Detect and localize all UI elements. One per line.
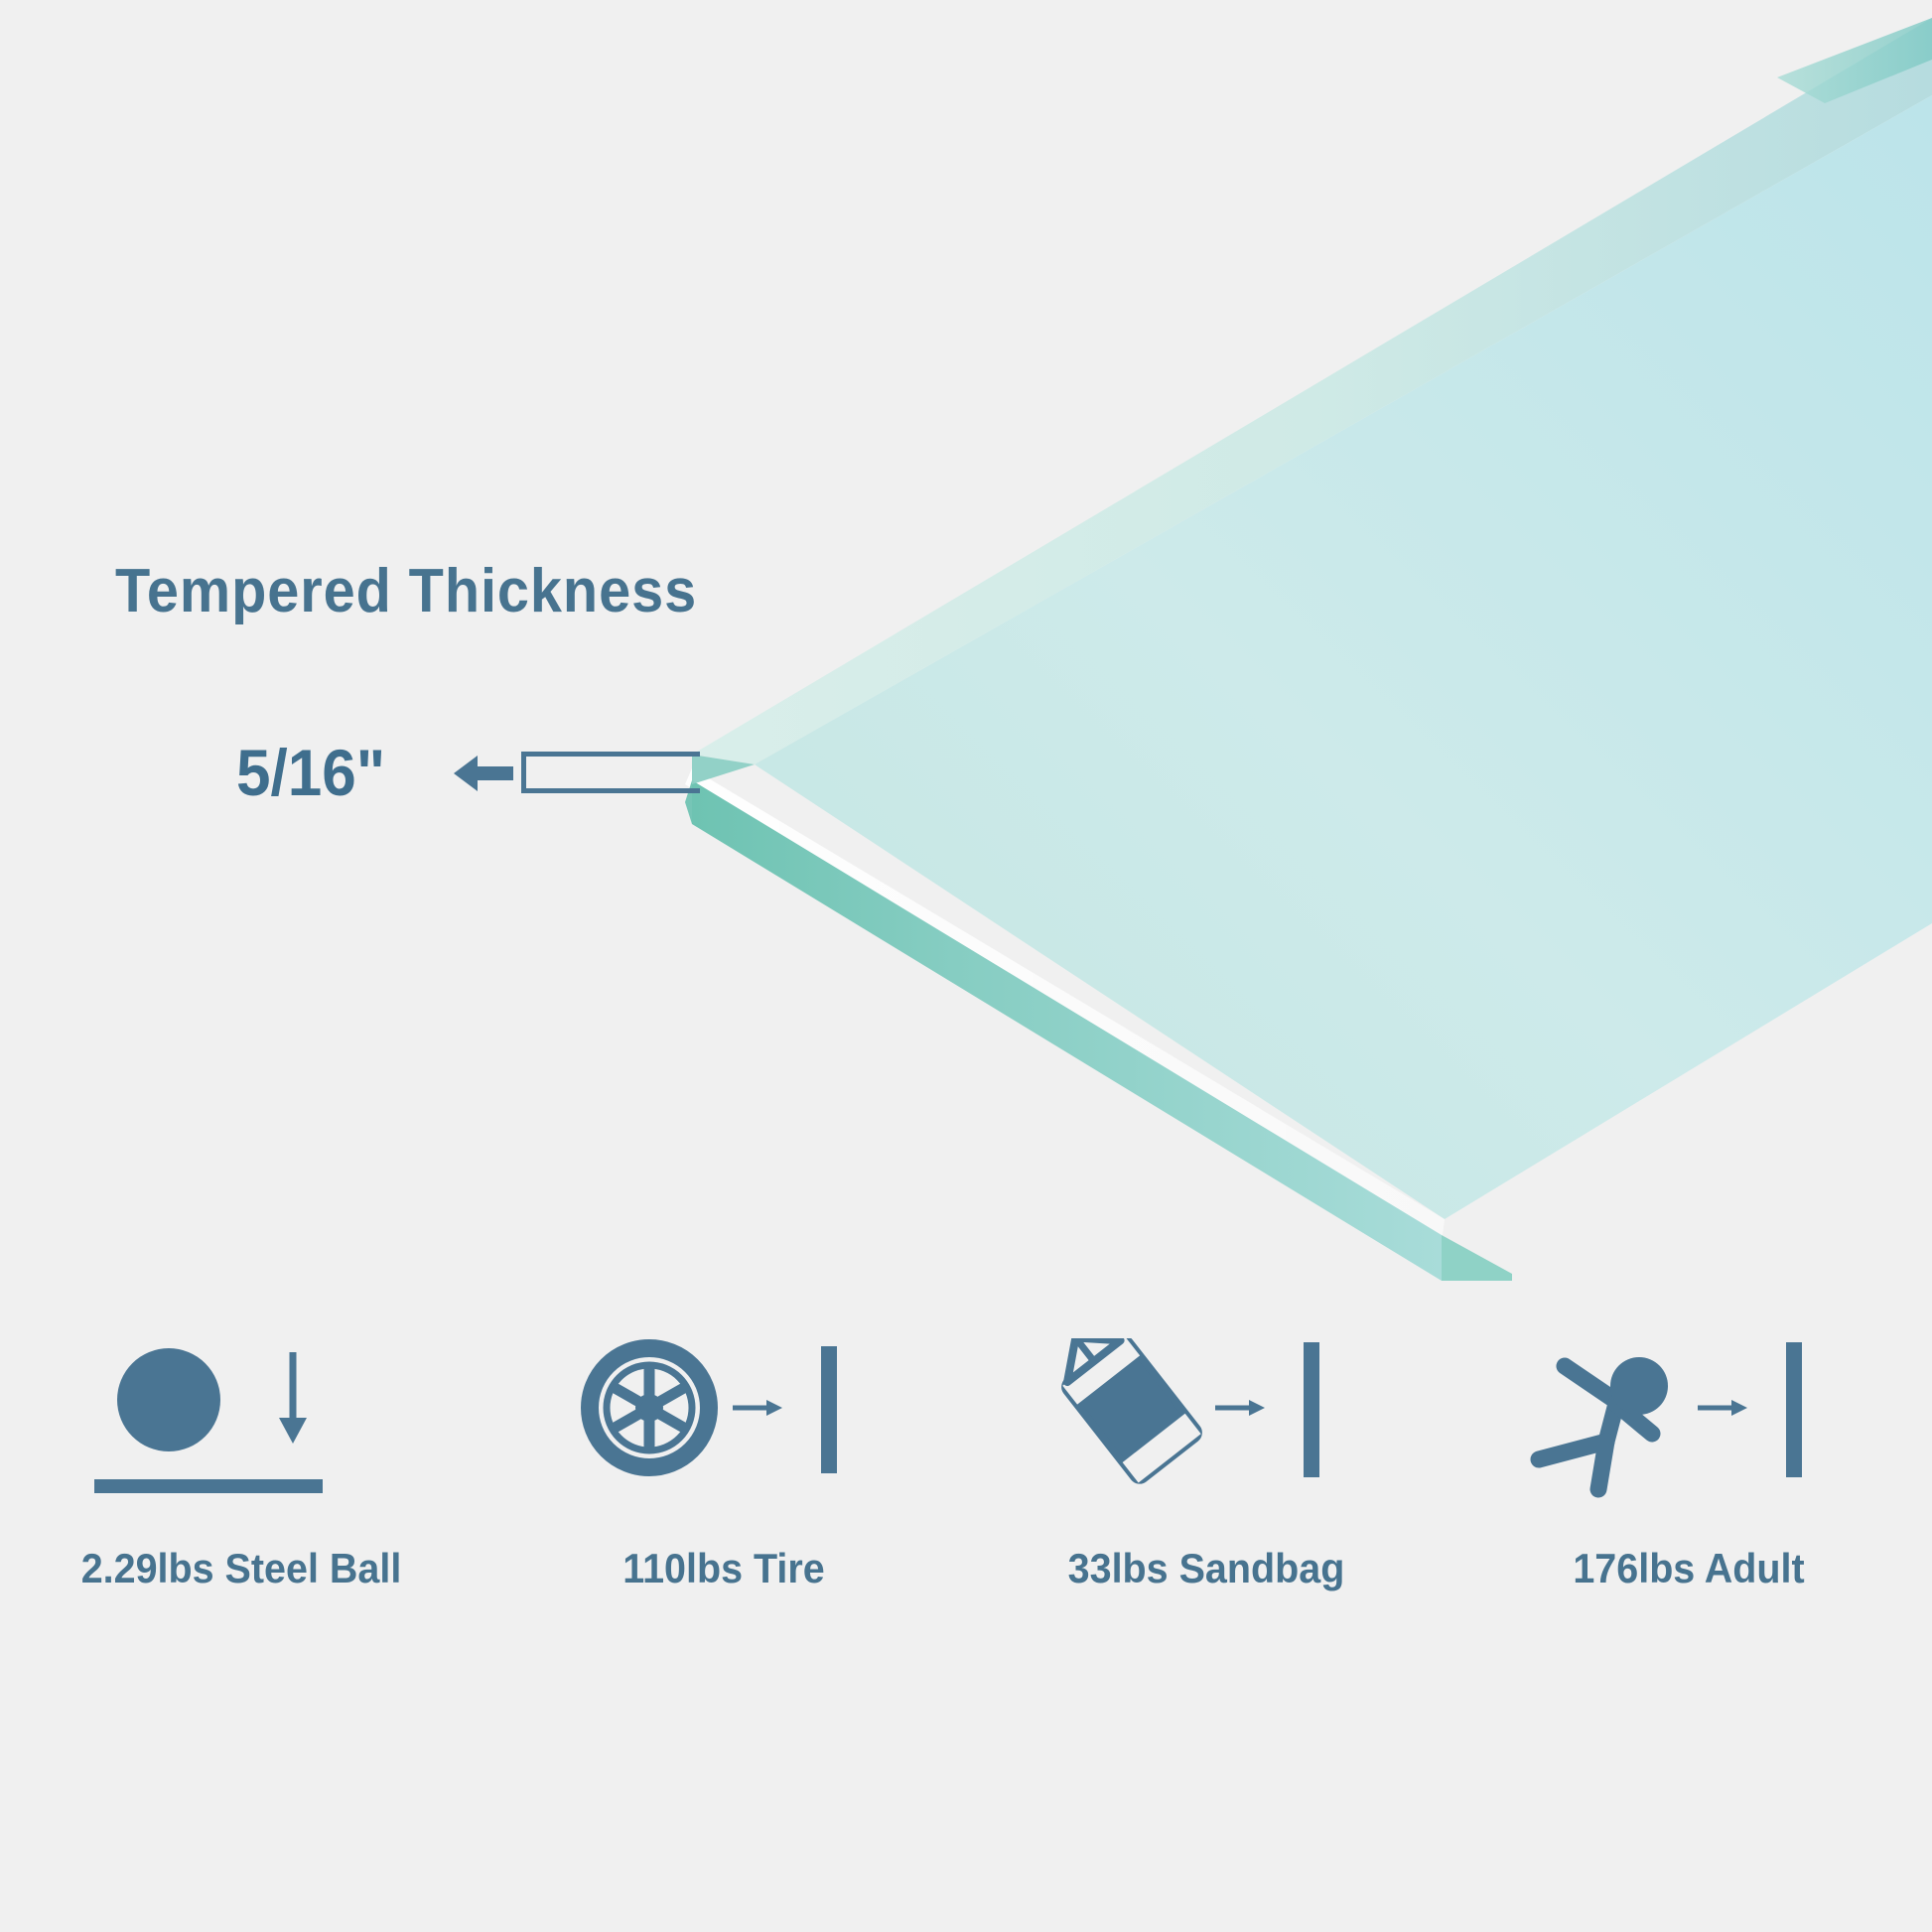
arrow-right-icon — [733, 1400, 782, 1416]
feature-adult: 176lbs Adult — [1448, 1338, 1930, 1656]
feature-label: 110lbs Tire — [497, 1545, 951, 1592]
infographic-canvas: Tempered Thickness 5/16" 2.29lbs Steel B… — [0, 0, 1932, 1932]
feature-sandbag: 33lbs Sandbag — [965, 1338, 1448, 1656]
tire-impact-icon — [483, 1338, 965, 1517]
measure-bracket-icon — [521, 752, 700, 793]
feature-tire: 110lbs Tire — [483, 1338, 965, 1656]
feature-label: 33lbs Sandbag — [980, 1545, 1434, 1592]
feature-label: 176lbs Adult — [1462, 1545, 1916, 1592]
page-title: Tempered Thickness — [115, 556, 697, 626]
adult-impact-icon — [1448, 1338, 1930, 1517]
impact-test-row: 2.29lbs Steel Ball — [0, 1338, 1932, 1656]
steel-ball-drop-icon — [0, 1338, 483, 1517]
arrow-right-icon — [1698, 1400, 1747, 1416]
sandbag-impact-icon — [965, 1338, 1448, 1517]
arrow-left-icon — [452, 750, 515, 797]
thickness-value: 5/16" — [236, 735, 385, 810]
arrow-right-icon — [1215, 1400, 1265, 1416]
feature-label: 2.29lbs Steel Ball — [15, 1545, 469, 1592]
feature-steel-ball: 2.29lbs Steel Ball — [0, 1338, 483, 1656]
